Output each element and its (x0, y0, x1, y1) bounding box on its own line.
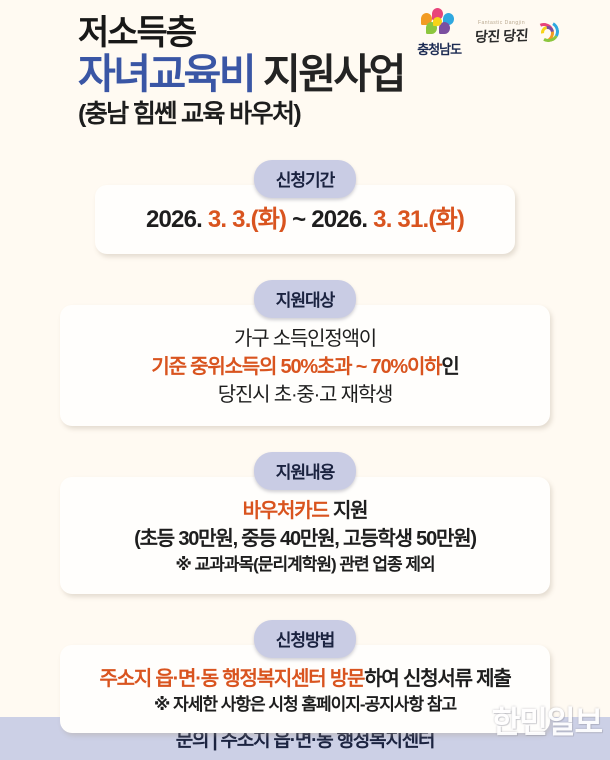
dangjin-wordmark: Fantastic Dangjin 당진 당진 (475, 20, 528, 46)
section-badge: 지원내용 (254, 452, 357, 490)
section-gap (0, 426, 610, 452)
highlight-text: 바우처카드 (243, 500, 329, 522)
poster-header: 충청남도 Fantastic Dangjin 당진 당진 저소득층 자녀교육비 … (0, 0, 610, 130)
section-2: 지원대상가구 소득인정액이기준 중위소득의 50%초과 ~ 70%이하인당진시 … (0, 280, 610, 426)
body-text: 2026. (146, 206, 208, 233)
card-line: ※ 자세한 사항은 시청 홈페이지-공지사항 참고 (78, 693, 532, 717)
card-line: 가구 소득인정액이 (78, 325, 532, 353)
body-text: ※ 자세한 사항은 시청 홈페이지-공지사항 참고 (154, 695, 456, 714)
card-line: 당진시 초·중·고 재학생 (78, 381, 532, 409)
chungnam-logo-label: 충청남도 (417, 39, 461, 58)
dangjin-ring-emblem (532, 20, 562, 46)
body-text: 당진시 초·중·고 재학생 (218, 384, 392, 406)
title-subtitle: (충남 힘쎈 교육 바우처) (78, 99, 610, 130)
body-text: ※ 교과과목(문리계학원) 관련 업종 제외 (175, 555, 434, 574)
title-suffix: 지원사업 (254, 51, 404, 97)
section-1: 신청기간2026. 3. 3.(화) ~ 2026. 3. 31.(화) (0, 160, 610, 253)
section-card: 바우처카드 지원(초등 30만원, 중등 40만원, 고등학생 50만원)※ 교… (60, 477, 550, 594)
section-badge: 지원대상 (254, 280, 357, 318)
card-line: 바우처카드 지원 (78, 497, 532, 525)
publisher-watermark: 한민일보 (492, 697, 602, 742)
title-highlight: 자녀교육비 (78, 51, 254, 97)
chungnam-flower-emblem (418, 8, 460, 38)
card-line: ※ 교과과목(문리계학원) 관련 업종 제외 (78, 553, 532, 577)
body-text: ~ 2026. (286, 206, 373, 233)
highlight-text: 3. 31.(화) (373, 206, 464, 233)
section-card: 가구 소득인정액이기준 중위소득의 50%초과 ~ 70%이하인당진시 초·중·… (60, 305, 550, 426)
highlight-text: 주소지 읍·면·동 행정복지센터 방문 (99, 668, 364, 690)
section-gap (0, 254, 610, 280)
section-badge: 신청방법 (254, 620, 357, 658)
body-text: 인 (441, 356, 458, 378)
body-text: 가구 소득인정액이 (234, 328, 376, 350)
highlight-text: 기준 중위소득의 50%초과 ~ 70%이하 (151, 356, 441, 378)
body-text: (초등 30만원, 중등 40만원, 고등학생 50만원) (134, 528, 476, 550)
body-text: 지원 (329, 500, 368, 522)
logo-group: 충청남도 Fantastic Dangjin 당진 당진 (417, 8, 562, 58)
poster-sections: 신청기간2026. 3. 3.(화) ~ 2026. 3. 31.(화)지원대상… (0, 160, 610, 733)
section-3: 지원내용바우처카드 지원(초등 30만원, 중등 40만원, 고등학생 50만원… (0, 452, 610, 594)
dangjin-logo-label: 당진 당진 (474, 25, 528, 47)
body-text: 하여 신청서류 제출 (364, 668, 510, 690)
section-gap (0, 594, 610, 620)
card-line: 2026. 3. 3.(화) ~ 2026. 3. 31.(화) (113, 203, 497, 237)
dangjin-logo: Fantastic Dangjin 당진 당진 (475, 20, 562, 46)
card-line: (초등 30만원, 중등 40만원, 고등학생 50만원) (78, 525, 532, 553)
section-badge: 신청기간 (254, 160, 357, 198)
section-card: 주소지 읍·면·동 행정복지센터 방문하여 신청서류 제출※ 자세한 사항은 시… (60, 645, 550, 734)
card-line: 기준 중위소득의 50%초과 ~ 70%이하인 (78, 353, 532, 381)
highlight-text: 3. 3.(화) (208, 206, 286, 233)
card-line: 주소지 읍·면·동 행정복지센터 방문하여 신청서류 제출 (78, 665, 532, 693)
title-line-2: 자녀교육비 지원사업 (78, 52, 610, 97)
chungnam-logo: 충청남도 (417, 8, 461, 58)
